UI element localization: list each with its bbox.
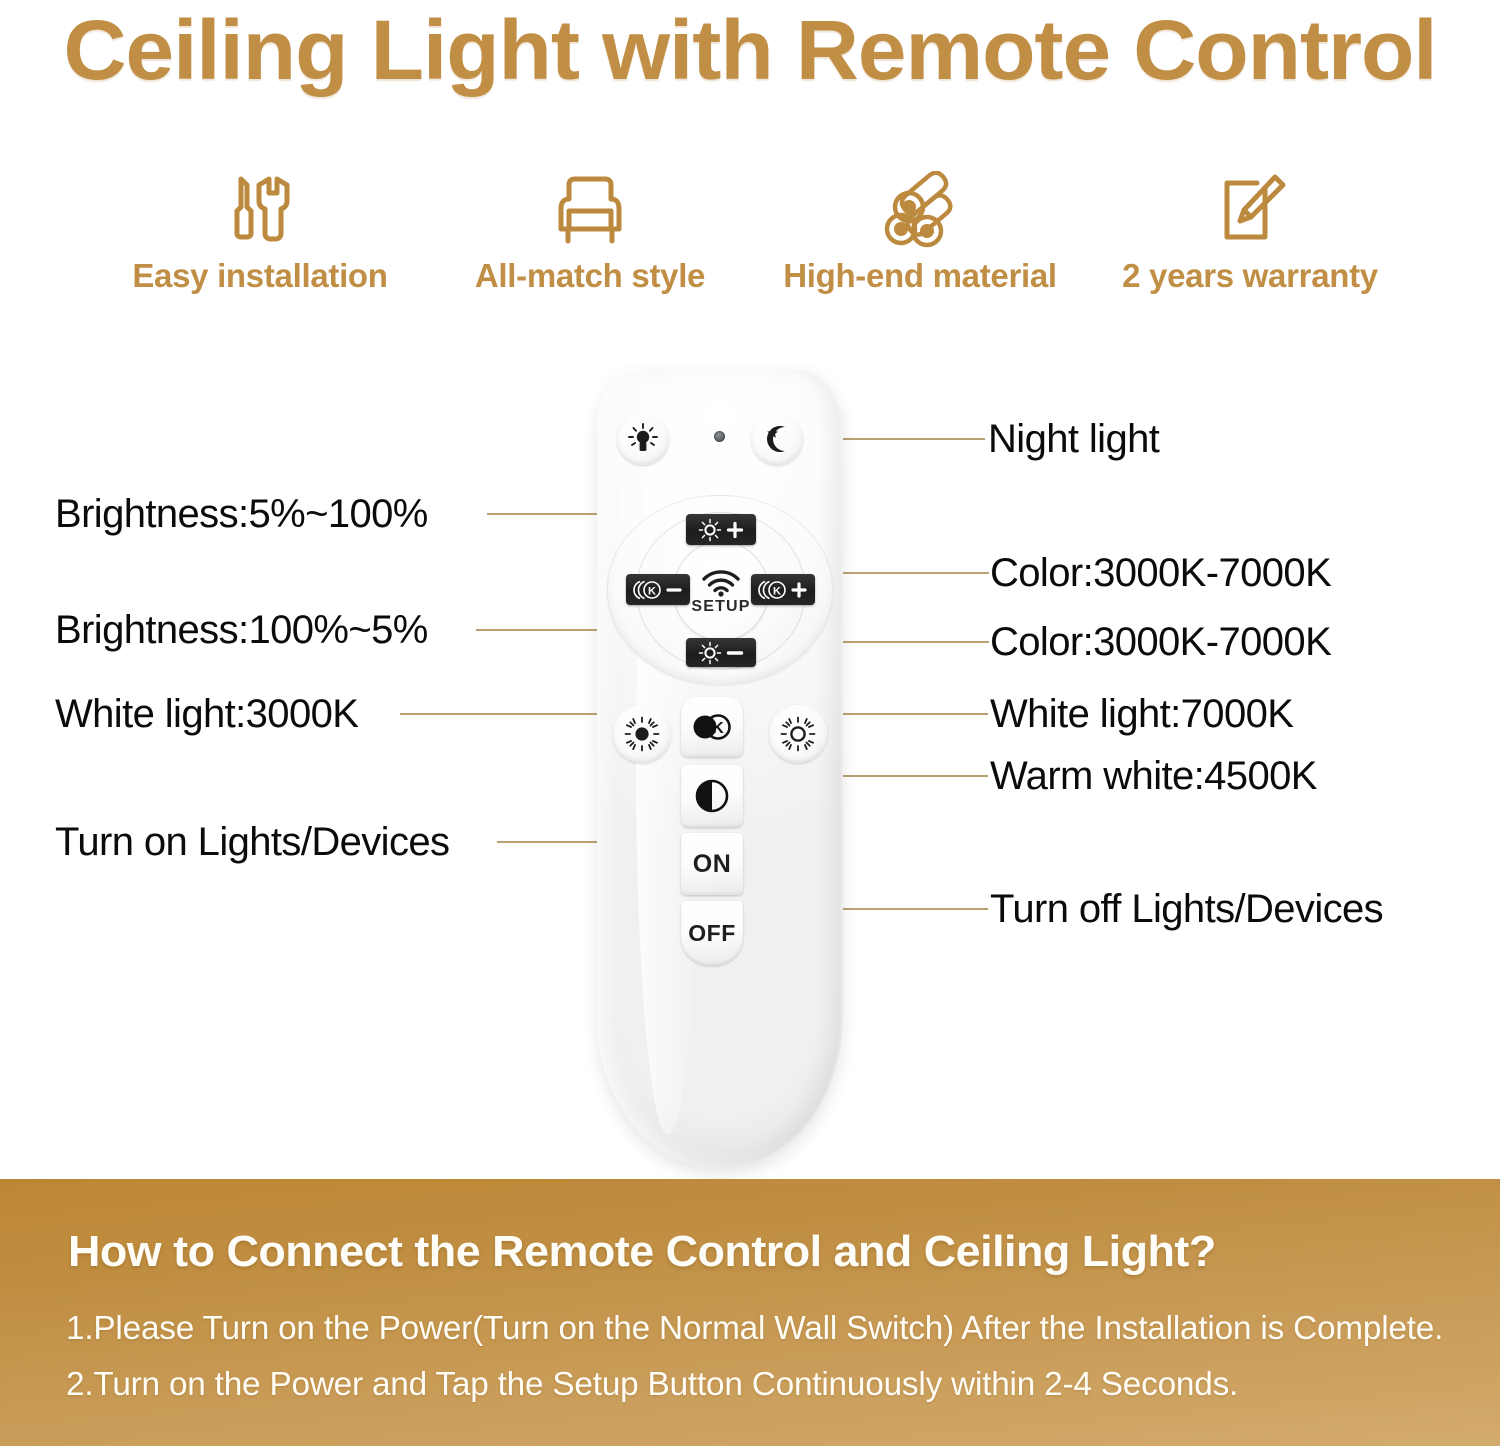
callout-white-3000k: White light:3000K [55,692,358,736]
callout-night-light: Night light [988,417,1159,461]
plus-icon [790,581,808,599]
feature-label: High-end material [783,257,1057,295]
document-pencil-icon [1211,167,1289,249]
how-to-connect-panel: How to Connect the Remote Control and Ce… [0,1179,1500,1446]
color-temp-up-button[interactable]: K [751,574,815,605]
minus-icon [725,643,745,663]
feature-2-years-warranty: 2 years warranty [1085,150,1415,295]
feature-label: Easy installation [132,257,387,295]
ir-led-indicator [714,431,725,442]
how-to-step-1: 1.Please Turn on the Power(Turn on the N… [66,1309,1443,1347]
feature-label: 2 years warranty [1122,257,1378,295]
how-to-step-2: 2.Turn on the Power and Tap the Setup Bu… [66,1365,1238,1403]
material-rolls-icon [879,167,961,249]
setup-label: SETUP [691,598,750,616]
white-light-7000k-button[interactable] [769,705,827,763]
feature-label: All-match style [475,257,705,295]
kelvin-toggle-button[interactable]: K [681,697,743,757]
feature-row: Easy installation All-match style [95,150,1415,295]
product-infographic: Ceiling Light with Remote Control Easy i… [0,0,1500,1446]
brightness-down-button[interactable] [686,638,756,667]
kelvin-plus-icon: K [758,579,788,601]
power-off-button[interactable]: OFF [681,901,743,965]
off-label: OFF [688,920,736,947]
wifi-setup-icon [698,567,744,597]
svg-text:K: K [712,720,724,737]
feature-easy-installation: Easy installation [95,150,425,295]
callout-color-down: Color:3000K-7000K [990,620,1331,664]
callout-brightness-up: Brightness:5%~100% [55,492,428,536]
control-pad: SETUP [607,495,833,685]
callout-brightness-down: Brightness:100%~5% [55,608,428,652]
callout-warm-white-4500k: Warm white:4500K [990,754,1317,798]
lightbulb-icon [626,422,660,456]
brightness-up-button[interactable] [686,514,756,545]
callout-turn-on: Turn on Lights/Devices [55,820,449,864]
brightness-minus-icon [697,641,723,665]
leader-white-7000k [822,713,988,715]
sun-filled-icon [623,715,661,753]
power-on-button[interactable]: ON [681,833,743,895]
kelvin-toggle-icon: K [690,712,734,742]
callout-color-up: Color:3000K-7000K [990,551,1331,595]
svg-text:K: K [773,585,781,597]
feature-high-end-material: High-end material [755,150,1085,295]
half-circle-contrast-icon [694,778,730,814]
armchair-icon [549,167,631,249]
leader-white-3000k [400,713,622,715]
warm-white-4500k-button[interactable] [681,765,743,827]
page-title: Ceiling Light with Remote Control [0,2,1500,98]
on-label: ON [693,850,732,879]
lightbulb-button[interactable] [617,413,669,465]
callout-white-7000k: White light:7000K [990,692,1293,736]
color-temp-down-button[interactable]: K [626,574,690,605]
white-light-3000k-button[interactable] [613,705,671,763]
minus-icon [665,581,683,599]
how-to-heading: How to Connect the Remote Control and Ce… [68,1227,1216,1277]
brightness-plus-icon [697,518,723,542]
plus-icon [725,520,745,540]
kelvin-minus-icon: K [633,579,663,601]
callout-turn-off: Turn off Lights/Devices [990,887,1383,931]
sun-outline-icon [779,715,817,753]
remote-control: SETUP [597,367,843,1167]
feature-all-match-style: All-match style [425,150,755,295]
night-light-button[interactable] [751,413,803,465]
svg-text:K: K [648,585,656,597]
screwdriver-wrench-icon [221,167,299,249]
moon-star-icon [760,422,794,456]
